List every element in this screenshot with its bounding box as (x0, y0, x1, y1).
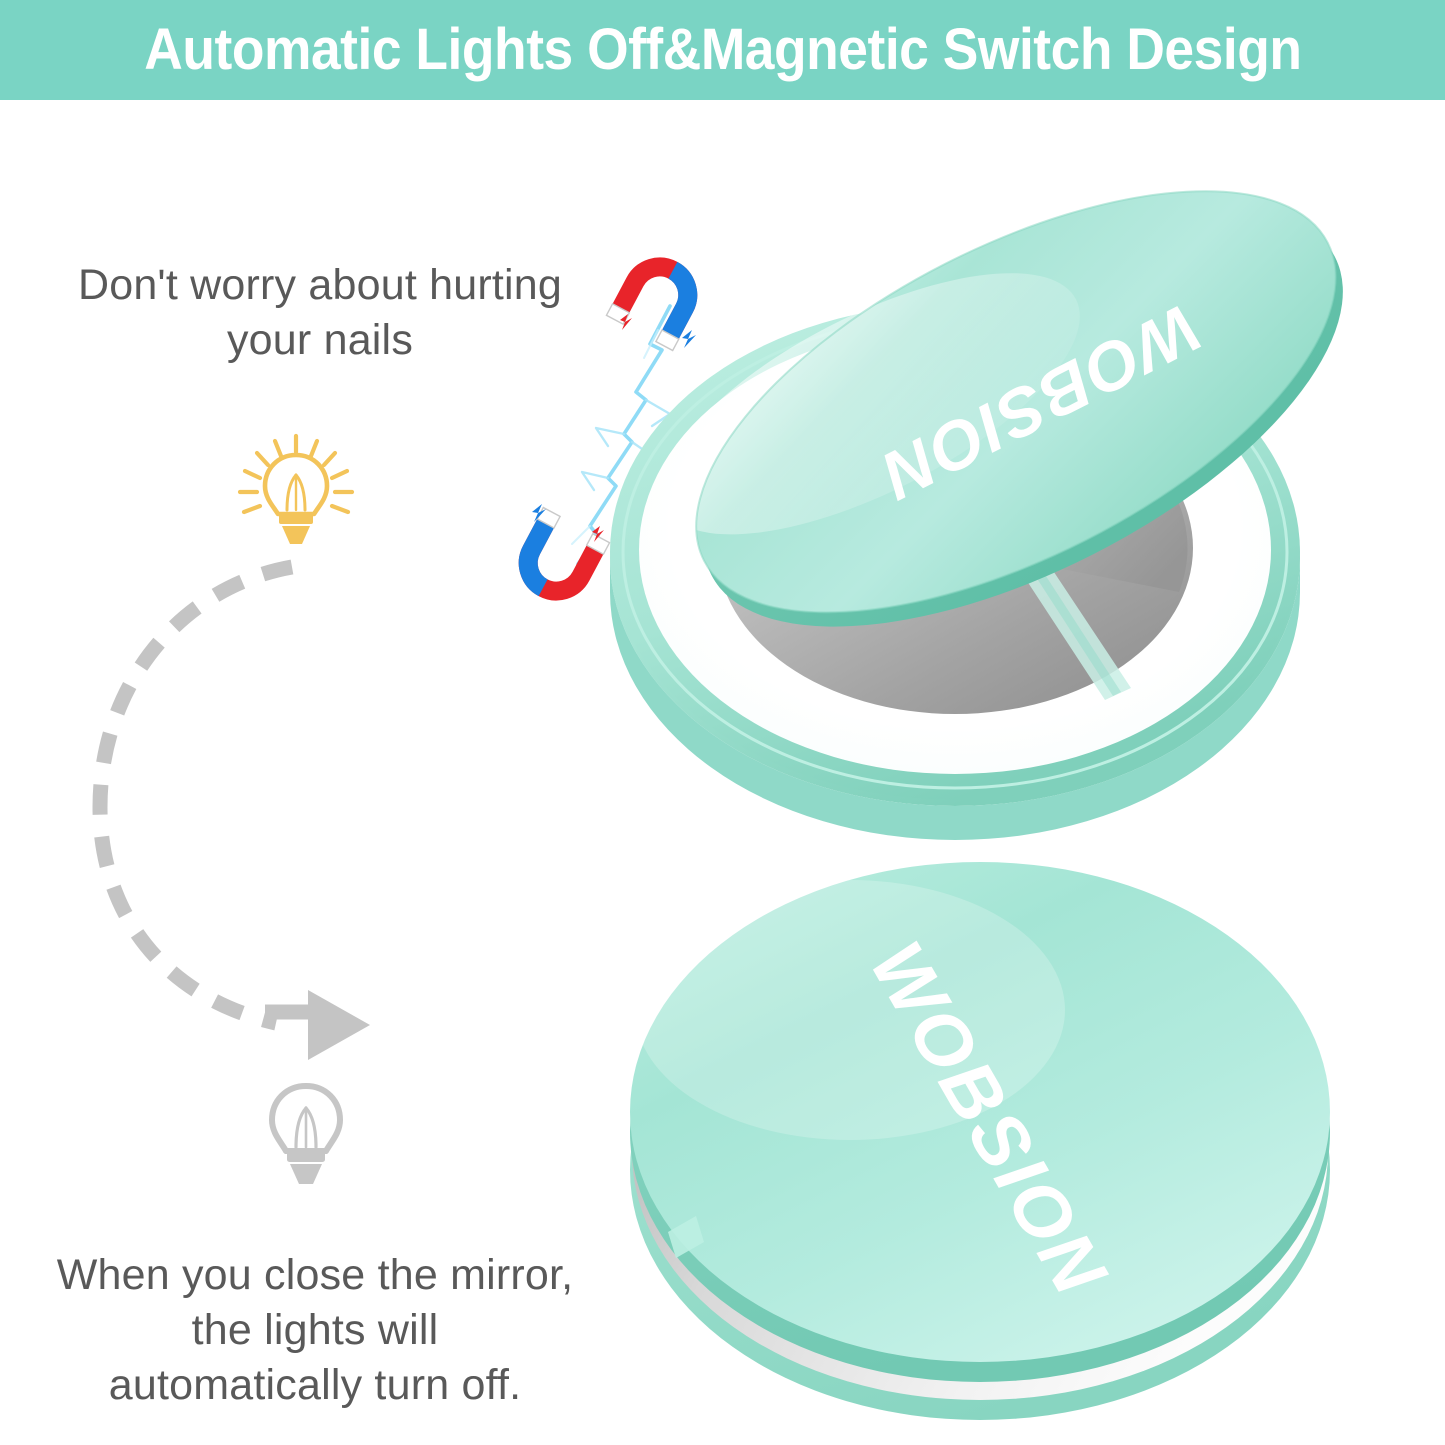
auto-off-callout-line-2: the lights will (30, 1303, 600, 1358)
lightbulb-on-icon (235, 432, 357, 554)
infographic-page: Automatic Lights Off&Magnetic Switch Des… (0, 0, 1445, 1445)
page-title: Automatic Lights Off&Magnetic Switch Des… (144, 21, 1301, 79)
compact-mirror-closed: WOBSION (600, 840, 1360, 1440)
nails-callout-line-2: your nails (40, 313, 600, 368)
auto-off-callout-line-3: automatically turn off. (30, 1358, 600, 1413)
lightbulb-off-icon (258, 1080, 354, 1188)
nails-callout: Don't worry about hurting your nails (40, 258, 600, 368)
auto-off-callout: When you close the mirror, the lights wi… (30, 1248, 600, 1413)
nails-callout-line-1: Don't worry about hurting (40, 258, 600, 313)
dashed-curved-arrow-icon (70, 545, 430, 1065)
auto-off-callout-line-1: When you close the mirror, (30, 1248, 600, 1303)
compact-mirror-open: WOBSION (585, 140, 1385, 840)
header-banner: Automatic Lights Off&Magnetic Switch Des… (0, 0, 1445, 100)
